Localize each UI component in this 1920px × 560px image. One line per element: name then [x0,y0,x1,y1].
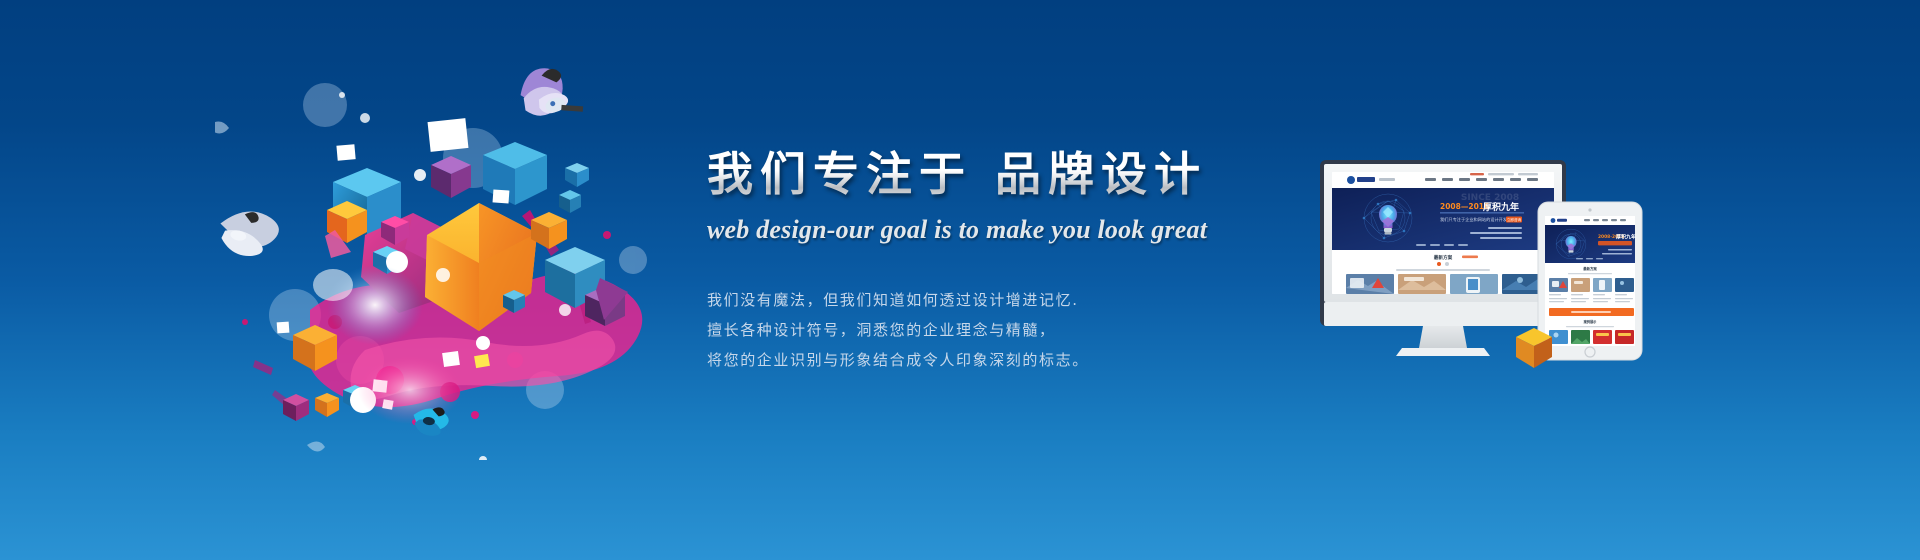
butterfly-purple [515,60,585,128]
tablet-camera-icon [1588,208,1591,211]
hero-text-block: 我们专注于 品牌设计 web design-our goal is to mak… [707,148,1267,375]
hero-subtitle: web design-our goal is to make you look … [707,215,1267,245]
svg-text:案例展示: 案例展示 [1583,319,1598,324]
butterfly-white [215,205,282,262]
hero-paragraph: 我们没有魔法，但我们知道如何透过设计增进记忆. 擅长各种设计符号，洞悉您的企业理… [707,285,1267,375]
banner-slogan: 厚积九年 [1483,201,1519,213]
svg-text:厚积九年: 厚积九年 [1616,234,1636,241]
paragraph-line-1: 我们没有魔法，但我们知道如何透过设计增进记忆. [707,285,1267,315]
tablet-screen: 2008-2016 厚积九年 最新方案 [1545,216,1636,346]
banner-subline: 我们只专注于企业和网站的设计开发 [1440,216,1508,223]
svg-text:立即咨询: 立即咨询 [1507,217,1522,222]
orange-cube-right [531,212,567,249]
blue-cube-tiny-b [559,190,581,213]
paragraph-line-2: 擅长各种设计符号，洞悉您的企业理念与精髓， [707,315,1267,345]
shard-top-left [215,121,229,133]
hero-banner: 我们专注于 品牌设计 web design-our goal is to mak… [0,0,1920,560]
monitor-base [1396,348,1490,356]
svg-text:最新方案: 最新方案 [1583,266,1597,271]
cyan-cube-tiny-a [565,163,589,187]
imac-monitor: SINCE 2008 [1320,160,1566,356]
purple-cube-small [431,156,471,198]
magenta-cube-bottom [283,394,309,421]
tablet-device: 2008-2016 厚积九年 最新方案 [1538,202,1642,360]
teal-cube [483,142,547,205]
orange-cube-bottom [315,393,339,417]
site-logo-icon [1347,176,1355,184]
monitor-stand [1419,326,1467,348]
paragraph-line-3: 将您的企业识别与形象结合成令人印象深刻的标志。 [707,345,1267,375]
section-title: 最新方案 [1434,254,1453,261]
banner-years: 2008—2016 [1440,202,1489,211]
shard-bottom [307,441,325,451]
page-title: 我们专注于 品牌设计 [707,148,1267,201]
device-mockup: SINCE 2008 [1320,160,1660,410]
abstract-artwork [215,60,675,460]
monitor-screen: SINCE 2008 [1332,172,1554,294]
